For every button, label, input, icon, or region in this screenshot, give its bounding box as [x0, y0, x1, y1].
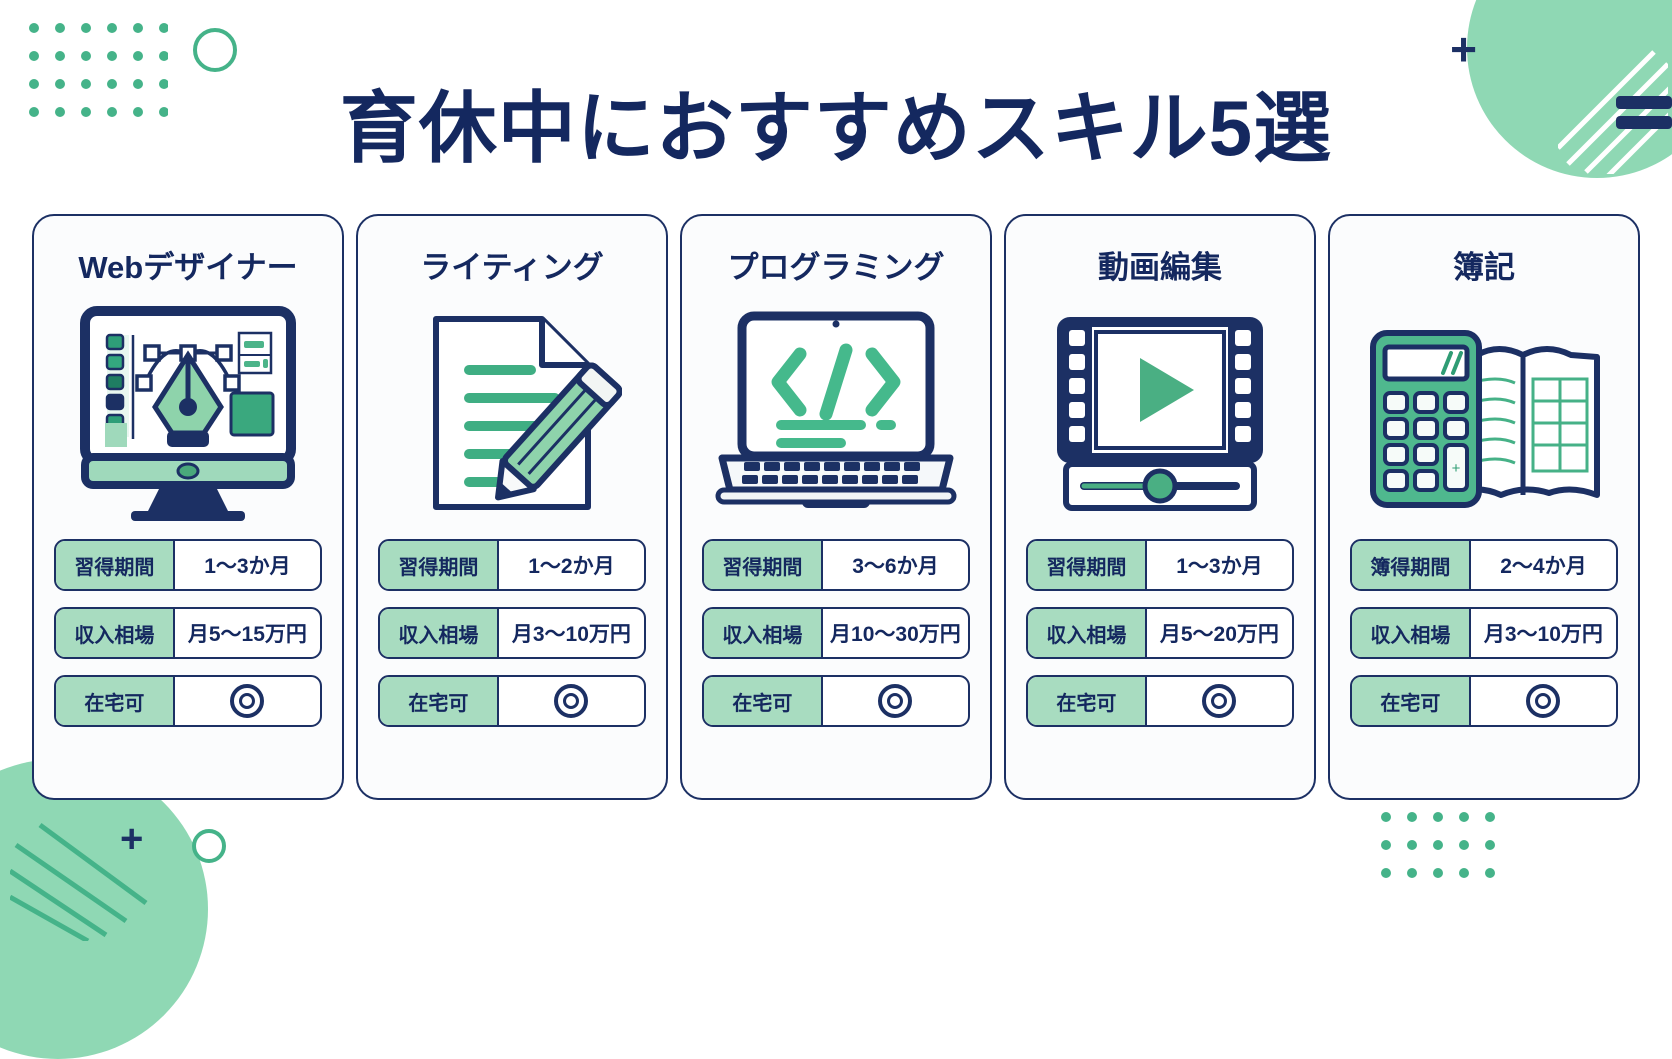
row-label: 在宅可 — [56, 677, 175, 725]
detail-row: 収入相場 月5〜15万円 — [54, 607, 322, 659]
card-detail-rows: 簿得期間 2〜4か月 収入相場 月3〜10万円 在宅可 — [1350, 539, 1618, 727]
double-circle-yes-icon — [1526, 684, 1560, 718]
card-title: 動画編集 — [1098, 242, 1222, 287]
card-detail-rows: 習得期間 1〜3か月 収入相場 月5〜15万円 在宅可 — [54, 539, 322, 727]
detail-row: 収入相場 月10〜30万円 — [702, 607, 970, 659]
card-title: Webデザイナー — [78, 242, 297, 287]
row-value: 1〜3か月 — [1147, 541, 1292, 589]
detail-row: 在宅可 — [1026, 675, 1294, 727]
card-detail-rows: 習得期間 1〜3か月 収入相場 月5〜20万円 在宅可 — [1026, 539, 1294, 727]
row-label: 収入相場 — [56, 609, 175, 657]
row-value — [1147, 677, 1292, 725]
double-circle-yes-icon — [230, 684, 264, 718]
page-title: 育休中におすすめスキル5選 — [0, 66, 1672, 178]
plus-bottom-left-decoration: + — [120, 819, 143, 859]
detail-row: 在宅可 — [54, 675, 322, 727]
row-value: 月5〜15万円 — [175, 609, 320, 657]
detail-row: 習得期間 1〜2か月 — [378, 539, 646, 591]
row-label: 簿得期間 — [1352, 541, 1471, 589]
detail-row: 収入相場 月5〜20万円 — [1026, 607, 1294, 659]
skill-card-writing[interactable]: ライティング — [356, 214, 668, 800]
card-title: 簿記 — [1453, 242, 1515, 287]
skill-card-video-editing[interactable]: 動画編集 — [1004, 214, 1316, 800]
row-label: 習得期間 — [380, 541, 499, 589]
double-circle-yes-icon — [554, 684, 588, 718]
row-value: 1〜2か月 — [499, 541, 644, 589]
row-value: 1〜3か月 — [175, 541, 320, 589]
skill-card-bookkeeping[interactable]: 簿記 — [1328, 214, 1640, 800]
detail-row: 収入相場 月3〜10万円 — [1350, 607, 1618, 659]
detail-row: 習得期間 1〜3か月 — [54, 539, 322, 591]
detail-row: 簿得期間 2〜4か月 — [1350, 539, 1618, 591]
monitor-pen-tool-icon — [54, 297, 322, 529]
detail-row: 習得期間 3〜6か月 — [702, 539, 970, 591]
row-value: 月3〜10万円 — [1471, 609, 1616, 657]
detail-row: 収入相場 月3〜10万円 — [378, 607, 646, 659]
detail-row: 在宅可 — [1350, 675, 1618, 727]
row-label: 収入相場 — [1352, 609, 1471, 657]
row-label: 習得期間 — [1028, 541, 1147, 589]
card-detail-rows: 習得期間 3〜6か月 収入相場 月10〜30万円 在宅可 — [702, 539, 970, 727]
row-value — [1471, 677, 1616, 725]
row-value — [499, 677, 644, 725]
laptop-code-icon — [702, 297, 970, 529]
document-pencil-icon — [378, 297, 646, 529]
row-value — [823, 677, 968, 725]
blob-bottom-left-decoration — [0, 759, 208, 1059]
card-title: プログラミング — [728, 242, 945, 287]
row-label: 収入相場 — [1028, 609, 1147, 657]
skill-card-web-designer[interactable]: Webデザイナー — [32, 214, 344, 800]
row-value — [175, 677, 320, 725]
svg-text:+: + — [1452, 460, 1461, 477]
detail-row: 在宅可 — [378, 675, 646, 727]
skill-card-list: Webデザイナー — [32, 214, 1640, 800]
card-detail-rows: 習得期間 1〜2か月 収入相場 月3〜10万円 在宅可 — [378, 539, 646, 727]
row-label: 習得期間 — [704, 541, 823, 589]
row-label: 収入相場 — [704, 609, 823, 657]
circle-outline-bottom-left-decoration — [192, 829, 226, 863]
row-label: 習得期間 — [56, 541, 175, 589]
calculator-book-icon: + — [1350, 297, 1618, 529]
row-label: 在宅可 — [1352, 677, 1471, 725]
detail-row: 在宅可 — [702, 675, 970, 727]
double-circle-yes-icon — [1202, 684, 1236, 718]
row-label: 在宅可 — [380, 677, 499, 725]
row-label: 収入相場 — [380, 609, 499, 657]
detail-row: 習得期間 1〜3か月 — [1026, 539, 1294, 591]
row-value: 2〜4か月 — [1471, 541, 1616, 589]
row-label: 在宅可 — [1028, 677, 1147, 725]
row-value: 月5〜20万円 — [1147, 609, 1292, 657]
double-circle-yes-icon — [878, 684, 912, 718]
card-title: ライティング — [420, 242, 604, 287]
row-value: 月10〜30万円 — [823, 609, 968, 657]
row-value: 月3〜10万円 — [499, 609, 644, 657]
film-play-icon — [1026, 297, 1294, 529]
row-label: 在宅可 — [704, 677, 823, 725]
skill-card-programming[interactable]: プログラミング — [680, 214, 992, 800]
row-value: 3〜6か月 — [823, 541, 968, 589]
